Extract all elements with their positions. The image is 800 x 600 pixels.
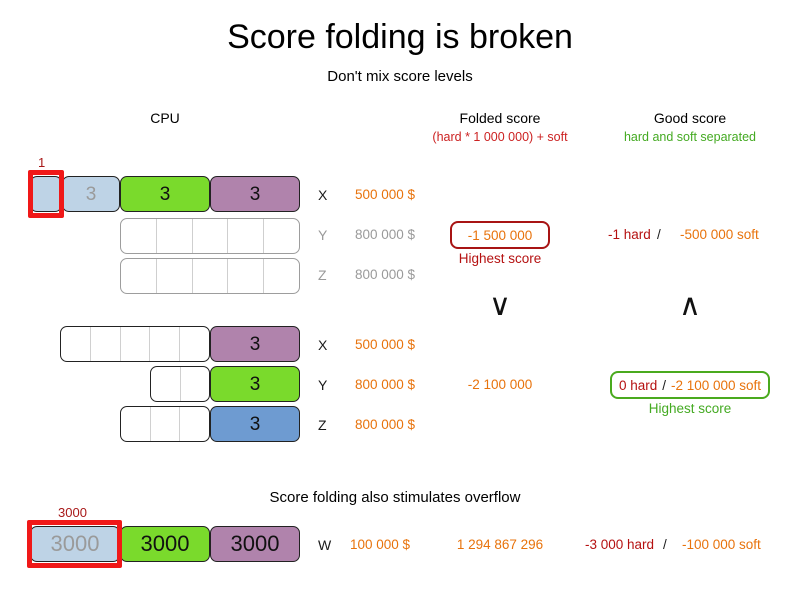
column-header-folded-score: Folded score <box>400 110 600 126</box>
good-separator-group3: / <box>663 537 667 552</box>
cpu-label-g2-x: X <box>318 337 338 353</box>
folded-highest-note-group1: Highest score <box>440 251 560 266</box>
cpu-label-g3-w: W <box>318 537 338 553</box>
bar-cell <box>263 219 299 253</box>
overflow-highlight-group1 <box>28 170 64 218</box>
comparison-symbol-good: ∧ <box>645 288 735 323</box>
folded-score-group3: 1 294 867 296 <box>440 537 560 552</box>
section-title-overflow: Score folding also stimulates overflow <box>140 489 650 506</box>
folded-score-box-group1[interactable]: -1 500 000 <box>450 221 550 249</box>
bar-cell <box>192 219 228 253</box>
good-score-box-group2[interactable]: 0 hard / -2 100 000 soft <box>610 371 770 399</box>
bar-cell <box>180 367 210 401</box>
money-g3-w: 100 000 $ <box>350 537 410 552</box>
bar-cell <box>192 259 228 293</box>
money-g1-y: 800 000 $ <box>355 227 415 242</box>
money-g2-x: 500 000 $ <box>355 337 415 352</box>
column-subheader-good-formula: hard and soft separated <box>590 130 790 144</box>
bar-segment-g1-x-2[interactable]: 3 <box>120 176 210 212</box>
money-g1-z: 800 000 $ <box>355 267 415 282</box>
column-header-good-score: Good score <box>595 110 785 126</box>
bar-cell <box>156 219 192 253</box>
column-header-cpu: CPU <box>105 110 225 126</box>
comparison-symbol-folded: ∨ <box>455 288 545 323</box>
bar-segment-g2-x[interactable]: 3 <box>210 326 300 362</box>
good-hard-group3: -3 000 hard <box>585 537 654 552</box>
money-g2-z: 800 000 $ <box>355 417 415 432</box>
bar-cell <box>90 327 120 361</box>
cpu-label-g1-x: X <box>318 187 338 203</box>
good-highest-note-group2: Highest score <box>630 401 750 416</box>
good-hard-group1: -1 hard <box>608 227 651 242</box>
page-title: Score folding is broken <box>0 18 800 57</box>
cpu-label-g1-z: Z <box>318 267 338 283</box>
bar-cell <box>61 327 90 361</box>
bar-row-g1-y[interactable] <box>120 218 300 254</box>
bar-segment-g3-w-2[interactable]: 3000 <box>210 526 300 562</box>
bar-row-g2-z-empty[interactable] <box>120 406 210 442</box>
bar-segment-g1-x-1[interactable]: 3 <box>62 176 120 212</box>
cpu-label-g2-z: Z <box>318 417 338 433</box>
money-g1-x: 500 000 $ <box>355 187 415 202</box>
bar-segment-g3-w-1[interactable]: 3000 <box>120 526 210 562</box>
bar-row-g2-y-empty[interactable] <box>150 366 210 402</box>
folded-score-group2: -2 100 000 <box>440 377 560 392</box>
cpu-label-g1-y: Y <box>318 227 338 243</box>
good-separator-group2: / <box>657 378 671 393</box>
bar-cell <box>179 327 209 361</box>
bar-cell <box>227 259 263 293</box>
money-g2-y: 800 000 $ <box>355 377 415 392</box>
good-soft-group2: -2 100 000 soft <box>671 378 761 393</box>
bar-cell <box>121 407 150 441</box>
overflow-highlight-group3 <box>27 520 122 568</box>
bar-cell <box>149 327 179 361</box>
overlay-caption-group3: 3000 <box>58 505 87 520</box>
bar-cell <box>179 407 209 441</box>
bar-cell <box>150 407 180 441</box>
bar-cell <box>263 259 299 293</box>
good-separator-group1: / <box>657 227 661 242</box>
page-subtitle: Don't mix score levels <box>0 68 800 85</box>
good-hard-group2: 0 hard <box>619 378 657 393</box>
bar-cell <box>121 259 156 293</box>
bar-cell <box>120 327 150 361</box>
bar-cell <box>121 219 156 253</box>
bar-row-g2-x-empty[interactable] <box>60 326 210 362</box>
bar-segment-g2-z[interactable]: 3 <box>210 406 300 442</box>
bar-segment-g2-y[interactable]: 3 <box>210 366 300 402</box>
bar-segment-g1-x-3[interactable]: 3 <box>210 176 300 212</box>
good-soft-group1: -500 000 soft <box>680 227 759 242</box>
bar-row-g1-x: 3 3 3 <box>30 176 300 212</box>
bar-cell <box>227 219 263 253</box>
overlay-caption-group1: 1 <box>38 155 45 170</box>
bar-cell <box>151 367 180 401</box>
bar-cell <box>156 259 192 293</box>
bar-row-g1-z[interactable] <box>120 258 300 294</box>
good-soft-group3: -100 000 soft <box>682 537 761 552</box>
cpu-label-g2-y: Y <box>318 377 338 393</box>
column-subheader-folded-formula: (hard * 1 000 000) + soft <box>390 130 610 144</box>
slide-canvas: Score folding is broken Don't mix score … <box>0 0 800 600</box>
